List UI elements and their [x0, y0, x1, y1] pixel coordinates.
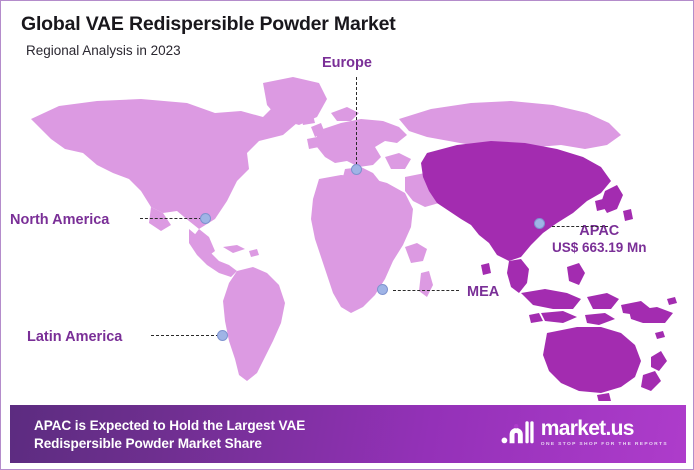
region-label-europe: Europe — [322, 55, 372, 72]
connector-mea — [393, 290, 459, 291]
region-label-apac: APAC US$ 663.19 Mn — [552, 223, 647, 255]
region-label-north-america: North America — [10, 212, 109, 229]
connector-apac — [552, 226, 608, 227]
connector-europe — [356, 77, 357, 165]
logo-wordmark: market.us — [541, 418, 668, 439]
market-us-logo-text: market.us ONE STOP SHOP FOR THE REPORTS — [541, 418, 668, 447]
bottom-banner: APAC is Expected to Hold the Largest VAE… — [10, 405, 686, 463]
region-label-mea: MEA — [467, 284, 499, 301]
marker-dot-europe[interactable] — [351, 164, 362, 175]
banner-headline-line2: Redispersible Powder Market Share — [34, 435, 305, 453]
page-subtitle: Regional Analysis in 2023 — [26, 43, 181, 58]
connector-latin-america — [151, 335, 219, 336]
market-us-logo-mark — [500, 417, 534, 447]
banner-headline: APAC is Expected to Hold the Largest VAE… — [34, 417, 305, 453]
connector-north-america — [140, 218, 202, 219]
marker-dot-mea[interactable] — [377, 284, 388, 295]
marker-dot-north-america[interactable] — [200, 213, 211, 224]
map-region-apac-highlight — [421, 141, 677, 401]
market-us-logo[interactable]: market.us ONE STOP SHOP FOR THE REPORTS — [500, 417, 668, 447]
region-value-apac: US$ 663.19 Mn — [552, 240, 647, 256]
marker-dot-latin-america[interactable] — [217, 330, 228, 341]
logo-tagline: ONE STOP SHOP FOR THE REPORTS — [541, 442, 668, 447]
marker-dot-apac[interactable] — [534, 218, 545, 229]
page-title: Global VAE Redispersible Powder Market — [21, 13, 396, 36]
region-label-latin-america: Latin America — [27, 329, 122, 346]
infographic-card: Global VAE Redispersible Powder Market R… — [0, 0, 694, 470]
banner-headline-line1: APAC is Expected to Hold the Largest VAE — [34, 417, 305, 435]
